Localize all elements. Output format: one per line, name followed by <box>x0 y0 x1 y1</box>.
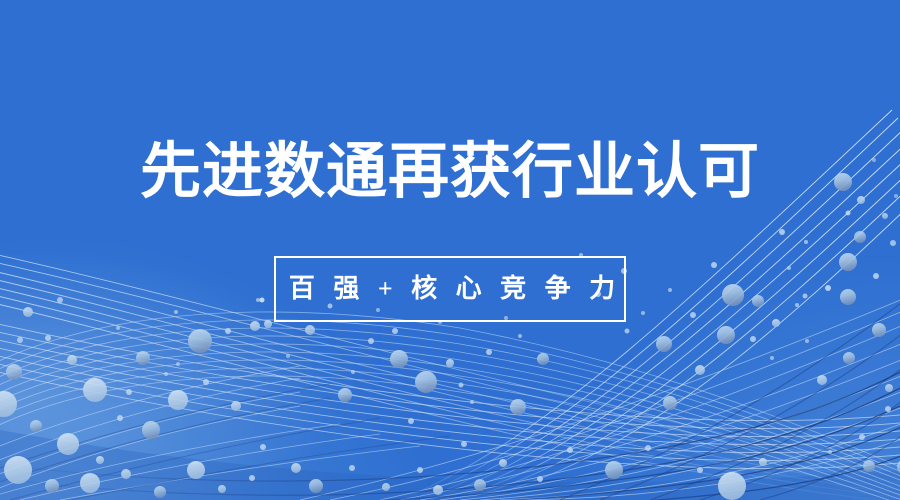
subtitle-badge-label: 百 强 + 核 心 竞 争 力 <box>283 274 621 304</box>
page-title: 先进数通再获行业认可 <box>140 138 760 208</box>
subtitle-badge: 百 强 + 核 心 竞 争 力 <box>274 256 626 322</box>
promo-banner: 先进数通再获行业认可 百 强 + 核 心 竞 争 力 <box>0 0 900 500</box>
banner-content: 先进数通再获行业认可 百 强 + 核 心 竞 争 力 <box>0 0 900 500</box>
